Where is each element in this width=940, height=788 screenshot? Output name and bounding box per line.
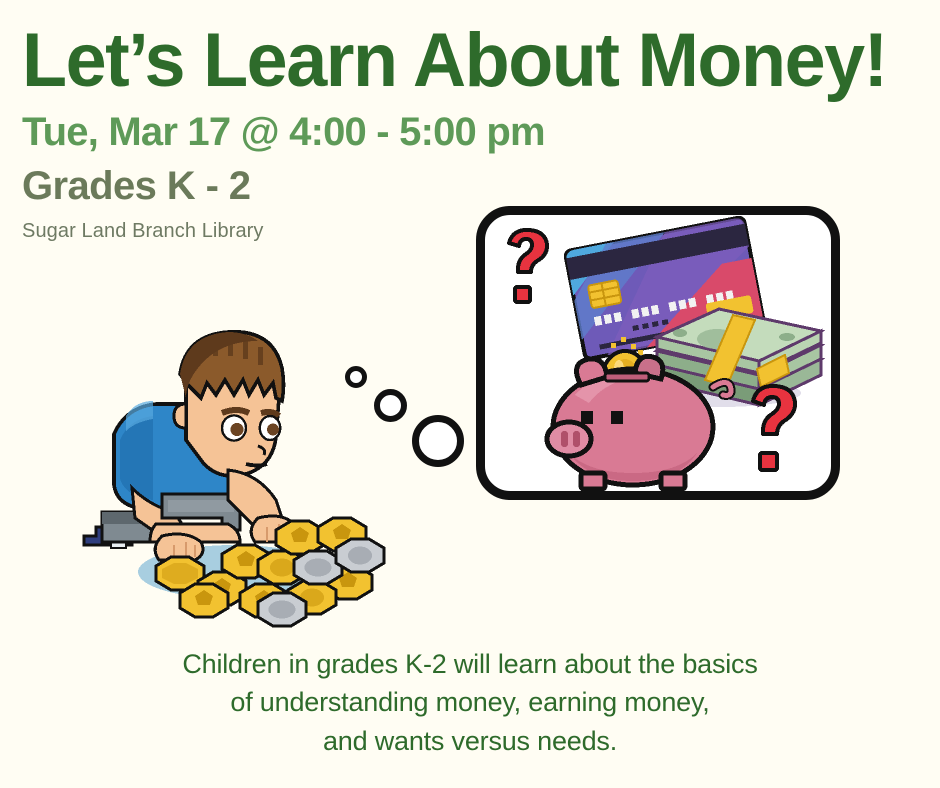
description-line-3: and wants versus needs. <box>0 722 940 760</box>
description-line-1: Children in grades K-2 will learn about … <box>0 645 940 683</box>
page-title: Let’s Learn About Money! <box>22 24 643 98</box>
question-mark-bottom-right-icon <box>753 386 795 470</box>
thought-bubble-dot-medium <box>374 389 407 422</box>
event-datetime: Tue, Mar 17 @ 4:00 - 5:00 pm <box>22 110 662 155</box>
event-description: Children in grades K-2 will learn about … <box>0 645 940 760</box>
boy-pixel-art <box>72 302 408 638</box>
poster-canvas: Let’s Learn About Money! Tue, Mar 17 @ 4… <box>0 0 940 788</box>
boy-with-coins-illustration <box>72 302 408 638</box>
event-grades: Grades K - 2 <box>22 164 662 209</box>
thought-bubble-dot-small <box>345 366 367 388</box>
question-mark-top-left-icon <box>509 230 547 302</box>
thought-bubble-dot-large <box>412 415 464 467</box>
description-line-2: of understanding money, earning money, <box>0 683 940 721</box>
thought-bubble-panel <box>476 206 840 500</box>
money-concepts-pixel-art <box>485 215 831 491</box>
thought-bubble-panel-inner <box>485 215 831 491</box>
